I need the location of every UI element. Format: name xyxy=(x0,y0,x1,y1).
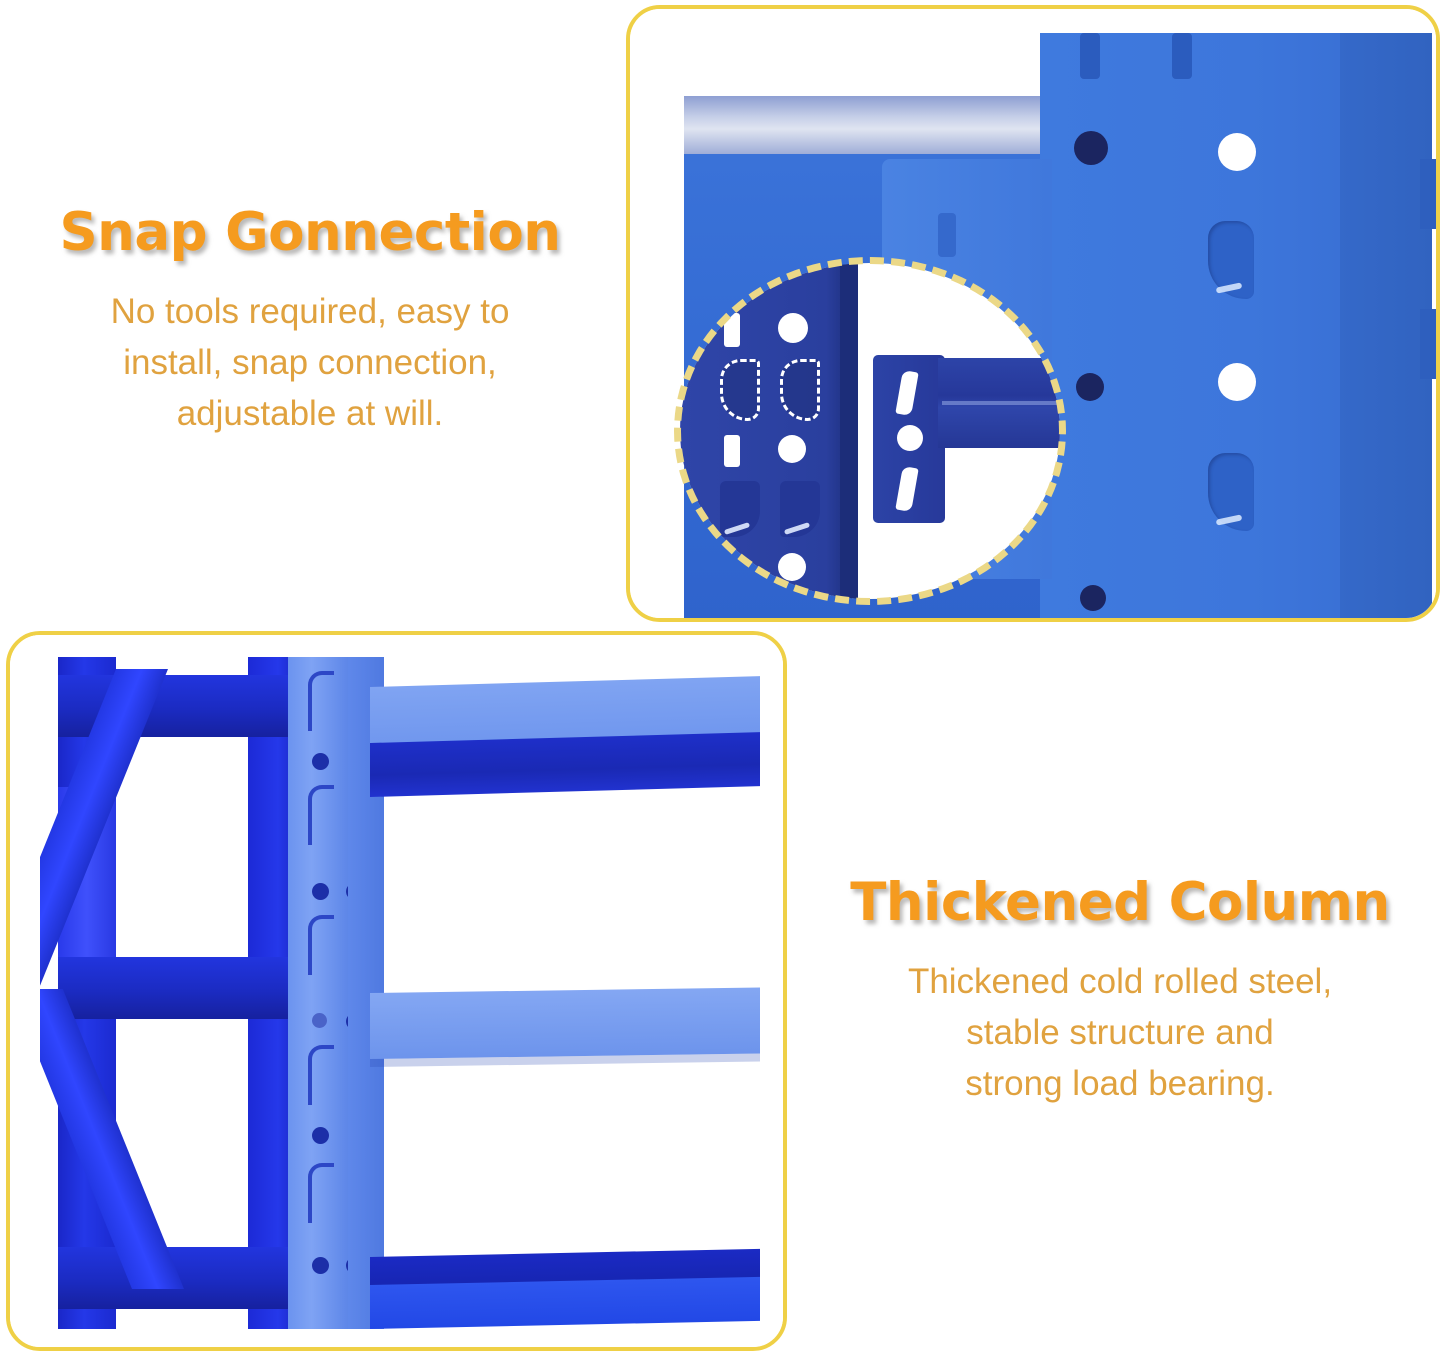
front-face-slot-icon xyxy=(938,213,956,257)
description-line: stable structure and xyxy=(800,1008,1440,1059)
thickened-column-heading: Thickened Column xyxy=(800,875,1440,931)
column-hole-icon xyxy=(312,1257,329,1274)
column-hole-icon xyxy=(312,883,329,900)
post-side-tab-icon xyxy=(1420,159,1440,229)
thickened-column-description: Thickened cold rolled steel, stable stru… xyxy=(800,957,1440,1109)
column-curve-slot-icon xyxy=(308,1163,334,1223)
post-notch-icon xyxy=(1172,33,1192,79)
post-teardrop-slot-icon xyxy=(1208,221,1254,299)
thickened-column-product-photo xyxy=(10,635,783,1347)
post-side-tab-icon xyxy=(1420,309,1440,379)
post-teardrop-slot-icon xyxy=(1208,453,1254,531)
post-hole-dark-icon xyxy=(1074,131,1108,165)
rear-frame-beam xyxy=(58,957,298,1019)
description-line: install, snap connection, xyxy=(0,338,620,389)
column-curve-slot-icon xyxy=(308,785,334,845)
description-line: adjustable at will. xyxy=(0,389,620,440)
thickened-column-text-block: Thickened Column Thickened cold rolled s… xyxy=(800,875,1440,1109)
post-hole-icon xyxy=(1218,363,1256,401)
column-hole-icon xyxy=(312,1127,329,1144)
upright-post xyxy=(1040,33,1340,622)
shelf-beam xyxy=(370,732,760,797)
column-curve-slot-icon xyxy=(308,1045,334,1105)
post-hole-dark-icon xyxy=(1080,585,1106,611)
rack-frame-photo xyxy=(40,657,760,1329)
post-notch-icon xyxy=(1080,33,1100,79)
column-curve-slot-icon xyxy=(308,671,334,731)
snap-connection-image-panel xyxy=(626,5,1440,622)
snap-connection-product-photo xyxy=(630,9,1436,618)
magnifier-dashed-circle-icon xyxy=(674,257,1066,605)
description-line: No tools required, easy to xyxy=(0,287,620,338)
column-hole-icon xyxy=(312,1013,327,1028)
description-line: strong load bearing. xyxy=(800,1059,1440,1110)
snap-connection-description: No tools required, easy to install, snap… xyxy=(0,287,620,439)
thickened-column-image-panel xyxy=(6,631,787,1351)
description-line: Thickened cold rolled steel, xyxy=(800,957,1440,1008)
snap-connection-heading: Snap Gonnection xyxy=(0,205,620,261)
shelf-beam xyxy=(370,1277,760,1329)
snap-connection-text-block: Snap Gonnection No tools required, easy … xyxy=(0,205,620,439)
post-hole-icon xyxy=(1218,133,1256,171)
magnifier-callout xyxy=(674,257,1066,605)
shelf-beam xyxy=(370,988,760,1059)
upright-post-side-face xyxy=(1340,33,1432,622)
column-curve-slot-icon xyxy=(308,915,334,975)
column-hole-icon xyxy=(312,753,329,770)
post-hole-dark-icon xyxy=(1076,373,1104,401)
